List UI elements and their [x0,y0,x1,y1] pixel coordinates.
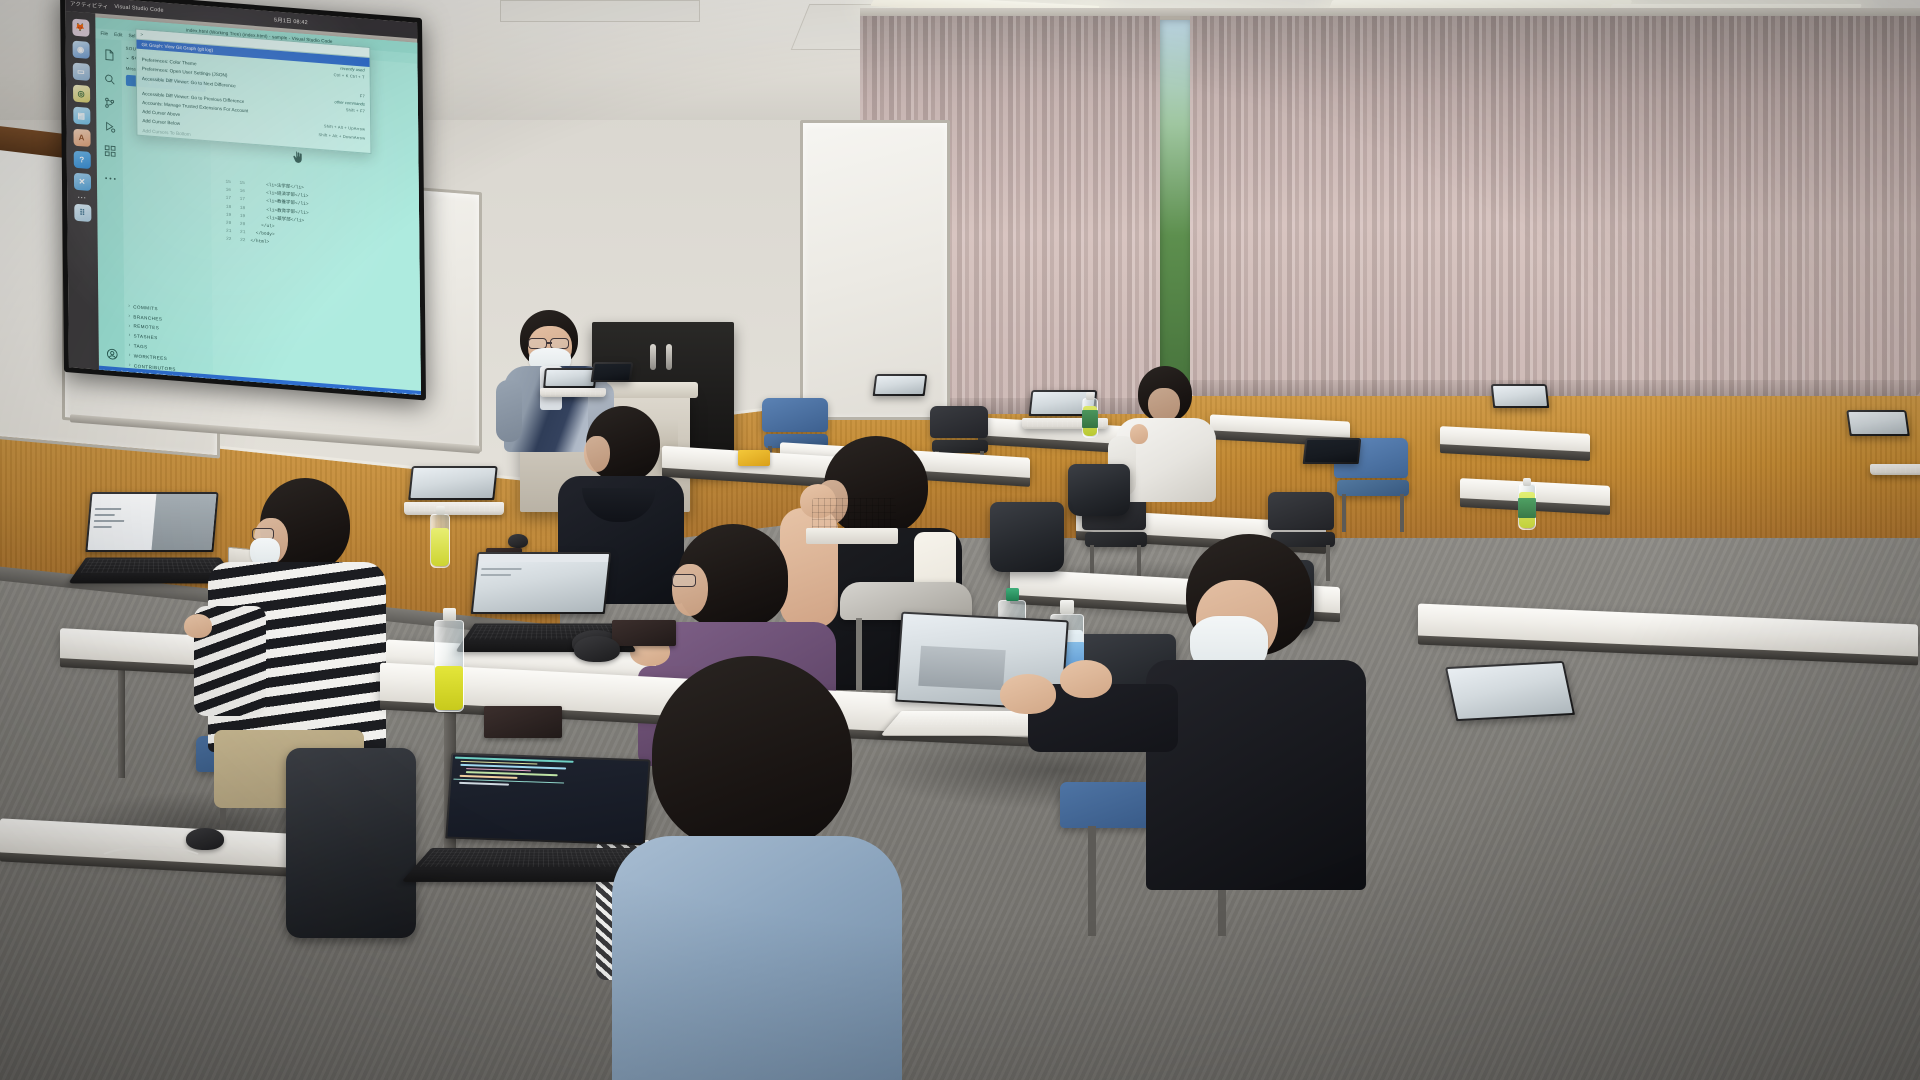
laptop-screen [1447,663,1572,719]
palette-item-keybinding: Shift + F7 [346,107,365,114]
command-palette: > Git Graph: View Git Graph (git log) re… [135,29,371,154]
cabinet-handle[interactable] [650,344,656,370]
ubuntu-dock: 🦊 ◉ ▭ ◎ ▤ A ? ✕ ⋯ ⠿ [65,11,99,370]
clock: 5月1日 08:42 [274,15,308,26]
status-spaces[interactable]: Spaces: 4 [361,388,380,394]
window-view [1160,20,1192,392]
keyboard-keys [409,505,499,512]
thunderbird-icon[interactable]: ◉ [72,41,89,59]
bottle-cap [1086,392,1094,400]
activities-label[interactable]: アクティビティ [70,0,108,10]
extensions-icon[interactable] [103,144,116,158]
bottle-label [1518,498,1536,518]
line-number-old: 22 [217,235,231,244]
laptop-lid [471,552,612,614]
laptop-screen [1848,412,1907,434]
computer-mouse[interactable] [186,828,224,850]
student-face [672,564,708,616]
student-hand [1130,424,1148,444]
more-icon[interactable] [103,168,116,175]
help-icon[interactable]: ? [73,151,90,169]
classroom-scene: アクティビティ Visual Studio Code 5月1日 08:42 🦊 … [0,0,1920,1080]
laptop-lid [1303,438,1362,464]
files-icon[interactable]: ▭ [72,63,89,81]
student-hand [184,614,212,638]
laptop-keyboard[interactable] [404,502,504,515]
smartphone-foreground[interactable] [484,706,562,738]
laptop-lid [408,466,498,500]
status-sync[interactable]: 0↓ 3↑ [121,369,131,375]
laptop-screen [593,364,631,380]
code-text: </html> [250,238,269,248]
status-branch[interactable]: ⑂ main [103,367,116,373]
status-position[interactable]: Ln 17, Col 1 [333,386,356,393]
status-language[interactable]: HTML [412,392,421,395]
vscode-window: index.html (Working Tree) (index.html) -… [95,17,421,395]
bottle-cap [436,506,445,515]
smartphone-center[interactable] [612,620,676,646]
student-hand [1000,674,1056,714]
glasses-bridge [546,342,552,344]
projected-desktop: アクティビティ Visual Studio Code 5月1日 08:42 🦊 … [65,0,421,395]
bottle-label [1082,410,1098,428]
student-torso [612,836,902,1080]
firefox-icon[interactable]: 🦊 [72,19,89,37]
laptop-lid [543,368,597,388]
line-number-new: 22 [231,236,245,245]
palette-item-keybinding: F7 [360,93,365,98]
tea-bottle-mid-left[interactable] [430,506,450,568]
backpack-foreground[interactable] [286,748,416,938]
projection-screen: アクティビティ Visual Studio Code 5月1日 08:42 🦊 … [60,0,426,400]
palette-item-label: Add Cursors To Bottom [142,128,190,137]
code-lines: 1515 <li>法学部</li> 1616 <li>経済学部</li> 171… [217,178,421,260]
bottle-cap [1523,478,1531,486]
bottle-cap [443,608,456,621]
laptop-right-edge [1848,428,1920,458]
ceiling-vent [500,0,700,22]
snack-box[interactable] [738,450,770,466]
mouse-cursor-pointer-icon [292,150,303,165]
status-git-graph[interactable]: Git Graph [156,372,174,378]
bottle-cap [1006,588,1019,601]
student-face [1148,388,1180,422]
instructor-second-laptop [590,368,634,392]
laptop-screen [545,370,594,386]
laptop-front-left [78,536,228,594]
student-torso [1146,660,1366,890]
keyboard-keys [1875,467,1920,473]
account-icon[interactable] [105,347,118,361]
green-tea-bottle[interactable] [1082,392,1098,438]
status-eol[interactable]: LF [402,391,407,395]
laptop-screen [410,468,495,498]
run-debug-icon[interactable] [103,120,116,134]
search-icon[interactable] [102,72,115,86]
rhythmbox-icon[interactable]: ◎ [72,85,89,103]
vscode-activity-bar [95,38,125,375]
computer-mouse[interactable] [508,534,528,548]
status-blame: You, 3 minutes ago [179,374,215,382]
software-center-icon[interactable]: A [73,129,90,147]
laptop-screen [1305,440,1359,462]
curtain-hem [1190,380,1920,396]
cabinet-handle[interactable] [666,344,672,370]
laptop-lid [873,374,928,396]
keyboard-keys [81,559,225,572]
backpack-mid[interactable] [990,502,1064,572]
laptop-far-right [1488,400,1554,428]
active-app-name: Visual Studio Code [114,4,163,14]
status-encoding[interactable]: UTF-8 [385,390,397,395]
laptop-right-foreground [1430,700,1570,760]
palette-item-keybinding: Ctrl + K Ctrl + T [334,72,365,79]
laptop-keyboard[interactable] [1870,464,1920,475]
laptop-screen [88,494,217,550]
show-apps-icon[interactable]: ⠿ [74,204,91,222]
text-editor-icon[interactable]: ▤ [73,107,90,125]
student-hand [1060,660,1112,698]
menu-file[interactable]: File [100,31,108,37]
instructor-arm-left [496,380,522,442]
bottle-liquid [431,528,449,566]
curtain-right [1190,16,1920,396]
laptop-right-mid [1300,456,1368,484]
dock-separator: ⋯ [77,195,87,200]
laptop-screen [473,554,609,612]
scm-tree: COMMITS BRANCHES REMOTES STASHES TAGS WO… [128,301,209,376]
student-head [652,656,852,852]
desk-leg [118,668,125,778]
student-front-right [1140,534,1380,894]
bottle-cap [1060,600,1074,614]
laptop-back-center [870,388,932,414]
laptop-right-edge-2 [1870,456,1920,484]
laptop-lid [591,362,634,382]
laptop-lid [1846,410,1910,436]
backpack-back[interactable] [1068,464,1130,516]
tea-bottle-right[interactable] [1518,478,1536,530]
laptop-lid [1445,661,1575,721]
source-control-icon[interactable] [103,96,116,110]
editor-scrollbar[interactable] [419,92,421,152]
laptop-lid [1491,384,1550,408]
student-face [584,436,610,472]
vscode-icon[interactable]: ✕ [73,173,90,191]
cable-loop [96,846,206,876]
explorer-icon[interactable] [102,48,115,62]
laptop-lid [85,492,218,552]
laptop-screen [1493,386,1547,406]
status-problems[interactable]: ⊗ 0 ⚠ 0 [136,370,151,376]
student-foreground [612,656,902,1080]
glasses-icon [672,574,696,587]
laptop-mid-left [404,488,504,528]
laptop-screen [875,376,925,394]
menu-edit[interactable]: Edit [114,32,122,38]
